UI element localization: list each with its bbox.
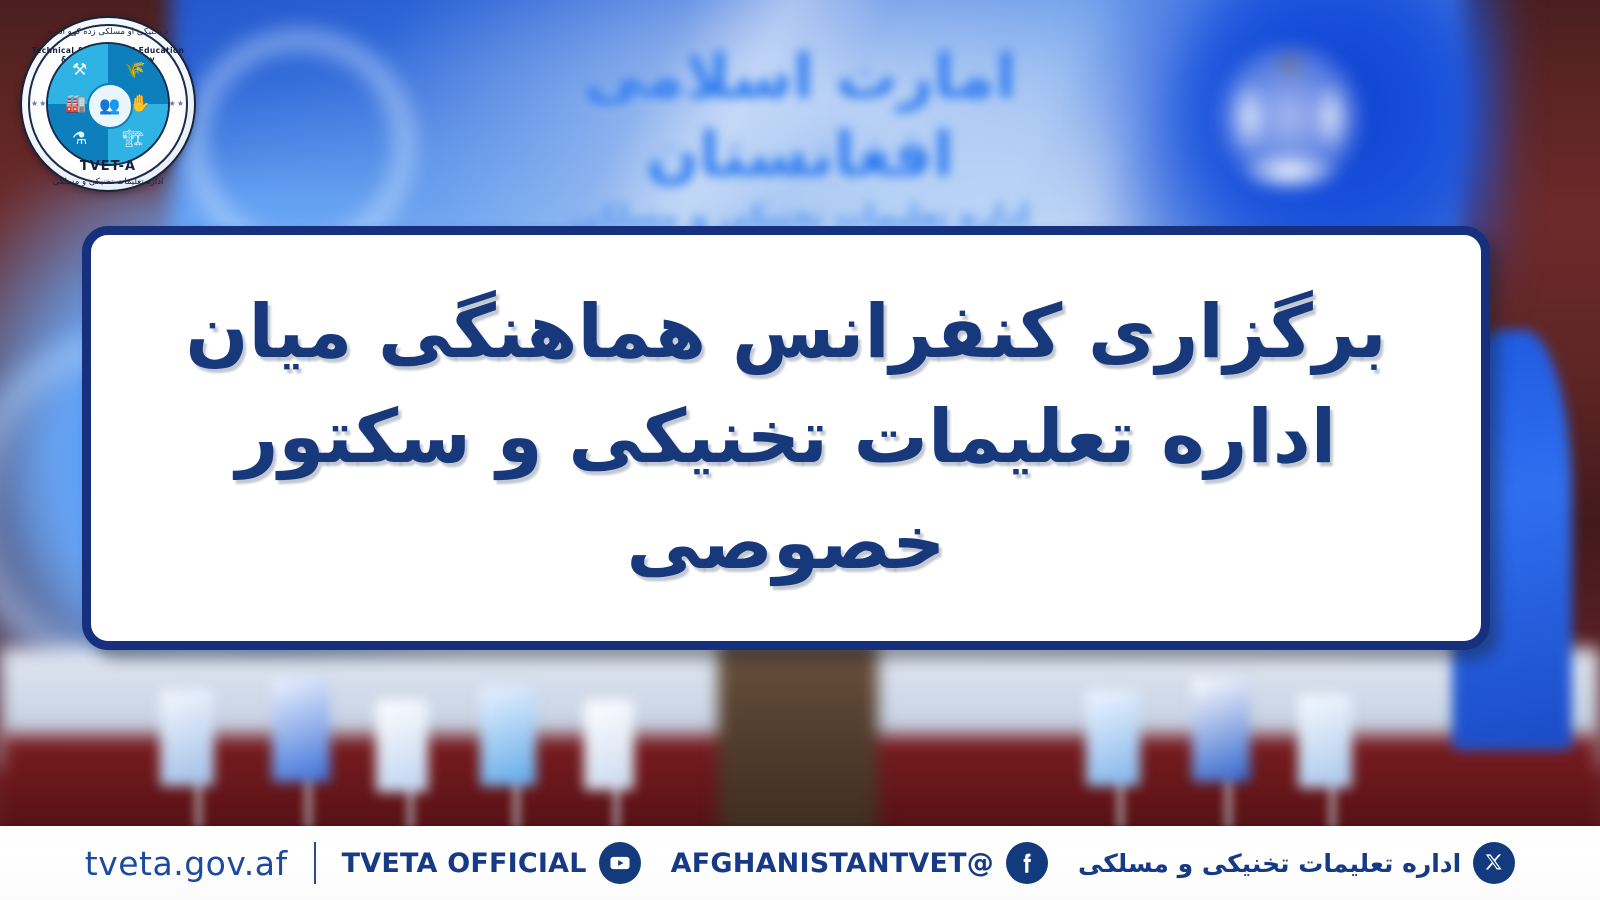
social-footer-bar: اداره تعلیمات تخنیکی و مسلکی @AFGHANISTA… [0, 826, 1600, 900]
facebook-icon[interactable] [1006, 842, 1048, 884]
afghanistan-national-emblem-icon [1200, 40, 1380, 200]
flag [1086, 690, 1140, 786]
logo-dari-bottom: اداره تعلیمات تخنیکی و مسلکی [22, 177, 194, 187]
banner-text-block: امارت اسلامی افغانستان اداره تعلیمات تخن… [430, 38, 1170, 240]
logo-hub: 👥 [87, 83, 133, 129]
agriculture-icon: 🌾 [125, 62, 146, 79]
footer-label-youtube: TVETA OFFICIAL [342, 848, 587, 879]
logo-dari-top: د تخنیکی او مسلکی زده کړو اداره [22, 27, 194, 37]
announcement-title: برگزاری کنفرانس هماهنگی میان اداره تعلیم… [91, 280, 1481, 595]
footer-item-youtube[interactable]: TVETA OFFICIAL [342, 842, 641, 884]
banner-headline: امارت اسلامی افغانستان [430, 38, 1170, 194]
flag [584, 700, 634, 790]
tveta-logo: د تخنیکی او مسلکی زده کړو اداره اداره تع… [22, 18, 194, 190]
science-icon: ⚗ [72, 131, 87, 148]
footer-label-facebook: @AFGHANISTANTVET [671, 848, 994, 879]
footer-item-facebook[interactable]: @AFGHANISTANTVET [671, 842, 1048, 884]
footer-item-x[interactable]: اداره تعلیمات تخنیکی و مسلکی [1078, 842, 1515, 884]
people-icon: 👥 [99, 96, 120, 116]
youtube-icon[interactable] [599, 842, 641, 884]
logo-acronym: TVET-A [22, 159, 194, 174]
tools-icon: ⚒ [72, 62, 87, 79]
footer-separator [314, 842, 316, 884]
x-twitter-icon[interactable] [1473, 842, 1515, 884]
podium [718, 640, 878, 840]
flag [160, 690, 214, 786]
construction-icon: 🏗 [122, 131, 144, 148]
footer-website-link[interactable]: tveta.gov.af [85, 844, 288, 883]
flag [1298, 694, 1352, 788]
flag [272, 678, 330, 782]
flag [1192, 678, 1250, 782]
hand-icon: ✋ [130, 96, 151, 113]
announcement-card: برگزاری کنفرانس هماهنگی میان اداره تعلیم… [82, 226, 1490, 650]
flag [376, 700, 428, 792]
footer-label-x: اداره تعلیمات تخنیکی و مسلکی [1078, 849, 1461, 878]
factory-icon: 🏭 [65, 96, 86, 113]
logo-pie-wheel: ⚒ 🌾 ✋ 🏗 ⚗ 🏭 👥 [46, 42, 170, 166]
flag [480, 686, 536, 786]
